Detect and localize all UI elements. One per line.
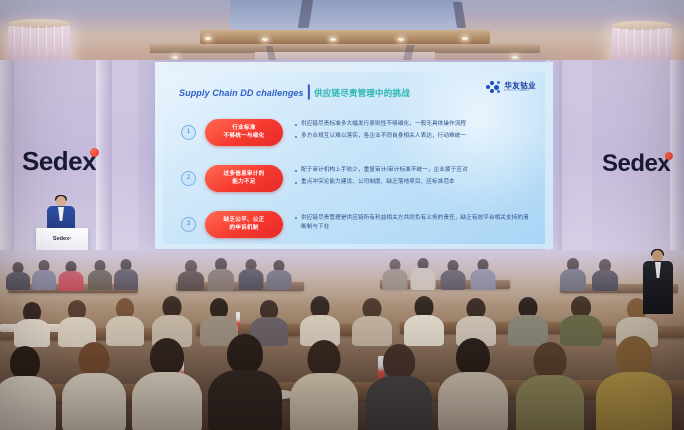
bullet-text: 配于审计机构上手较少，重复审计/审计标准不统一，企业疲于应对 [301,166,468,175]
bullet-dot-icon [295,136,297,138]
ceiling-downlight [262,38,268,41]
slide-row: 2 过多信息审计的 能力不足 配于审计机构上手较少，重复审计/审计标准不统一，企… [181,160,533,196]
sedex-logo-text: Sedex [602,150,670,177]
pill-line-2: 能力不足 [232,178,255,186]
ceiling-downlight [512,56,518,59]
bullet-dot-icon [295,217,297,219]
ceiling-downlight [330,38,336,41]
slide-title-separator: | [307,83,311,100]
bullet-dot-icon [295,170,297,172]
slide-title-chinese: 供应链尽责管理中的挑战 [314,88,410,98]
sedex-logo-text: Sedex [22,146,96,176]
row-label-pill: 过多信息审计的 能力不足 [205,165,283,192]
chandelier-left [8,26,70,62]
row-label-pill: 行业标准 不够统一与细化 [205,119,283,146]
slide-row: 3 缺乏公平、公正 的申诉机制 供应链尽责管理是供应链所有利益相关方共同负有义务… [181,206,533,242]
presentation-slide: Supply Chain DD challenges|供应链尽责管理中的挑战 华… [163,72,545,244]
slide-title-english: Supply Chain DD challenges [179,88,304,98]
conference-photo: Sedex Sedex Supply Chain DD challenges|供… [0,0,684,430]
ceiling-downlight [398,38,404,41]
row-number-badge: 1 [181,125,196,140]
bullet-text: 供应链尽责管理是供应链所有利益相关方共同负有义务的责任，缺乏有效平台相关支持的清… [301,214,533,231]
audience-lighting-wash [0,250,684,430]
row-label-pill: 缺乏公平、公正 的申诉机制 [205,211,283,238]
pill-line-2: 不够统一与细化 [224,132,265,140]
pill-line-2: 的申诉机制 [229,224,258,232]
bullet-item: 供应链尽责标准多大幅发行原则性不够细化，一般无具体操作流程 [295,120,533,129]
ceiling-skylight [230,0,460,34]
slide-content-rows: 1 行业标准 不够统一与细化 供应链尽责标准多大幅发行原则性不够细化，一般无具体… [181,114,533,244]
bullet-dot-icon [295,124,297,126]
ceiling-downlight [205,37,211,40]
bullet-text: 多方合规互认难以落实，各企业不同自身相关人表达，行动难统一 [301,132,466,141]
row-bullets: 供应链尽责标准多大幅发行原则性不够细化，一般无具体操作流程 多方合规互认难以落实… [295,120,533,143]
bullet-text: 重点冲突论能力建设、公司制度、缺乏落地项目、应标准范本 [301,178,455,187]
slide-row: 1 行业标准 不够统一与细化 供应链尽责标准多大幅发行原则性不够细化，一般无具体… [181,114,533,150]
ceiling-downlight [172,56,178,59]
chandelier-canopy [8,19,70,28]
audience-area [0,250,684,430]
row-number-badge: 2 [181,171,196,186]
sedex-wordmark-left: Sedex [22,148,96,174]
slide-header: Supply Chain DD challenges|供应链尽责管理中的挑战 [179,83,535,101]
pill-line-1: 过多信息审计的 [224,170,265,178]
huayou-brand-logo: 华友钴业 HUAYOU COBALT [486,81,536,94]
pill-line-1: 缺乏公平、公正 [224,216,265,224]
bullet-dot-icon [295,182,297,184]
row-number-badge: 3 [181,217,196,232]
sedex-wordmark-right: Sedex [602,152,670,176]
podium-logo-text: Sedex [53,236,69,242]
standing-attendee [643,250,673,314]
bullet-item: 供应链尽责管理是供应链所有利益相关方共同负有义务的责任，缺乏有效平台相关支持的清… [295,214,533,231]
row-bullets: 配于审计机构上手较少，重复审计/审计标准不统一，企业疲于应对 重点冲突论能力建设… [295,166,533,189]
bullet-text: 供应链尽责标准多大幅发行原则性不够细化，一般无具体操作流程 [301,120,466,129]
pill-line-1: 行业标准 [232,124,255,132]
huayou-name-en: HUAYOU COBALT [504,90,536,93]
bullet-item: 配于审计机构上手较少，重复审计/审计标准不统一，企业疲于应对 [295,166,533,175]
huayou-dots-icon [486,81,501,94]
ceiling-downlight [462,37,468,40]
podium-logo: Sedex• [36,236,88,242]
bullet-item: 多方合规互认难以落实，各企业不同自身相关人表达，行动难统一 [295,132,533,141]
chandelier-right [612,28,672,62]
bullet-item: 重点冲突论能力建设、公司制度、缺乏落地项目、应标准范本 [295,178,533,187]
row-bullets: 供应链尽责管理是供应链所有利益相关方共同负有义务的责任，缺乏有效平台相关支持的清… [295,214,533,234]
